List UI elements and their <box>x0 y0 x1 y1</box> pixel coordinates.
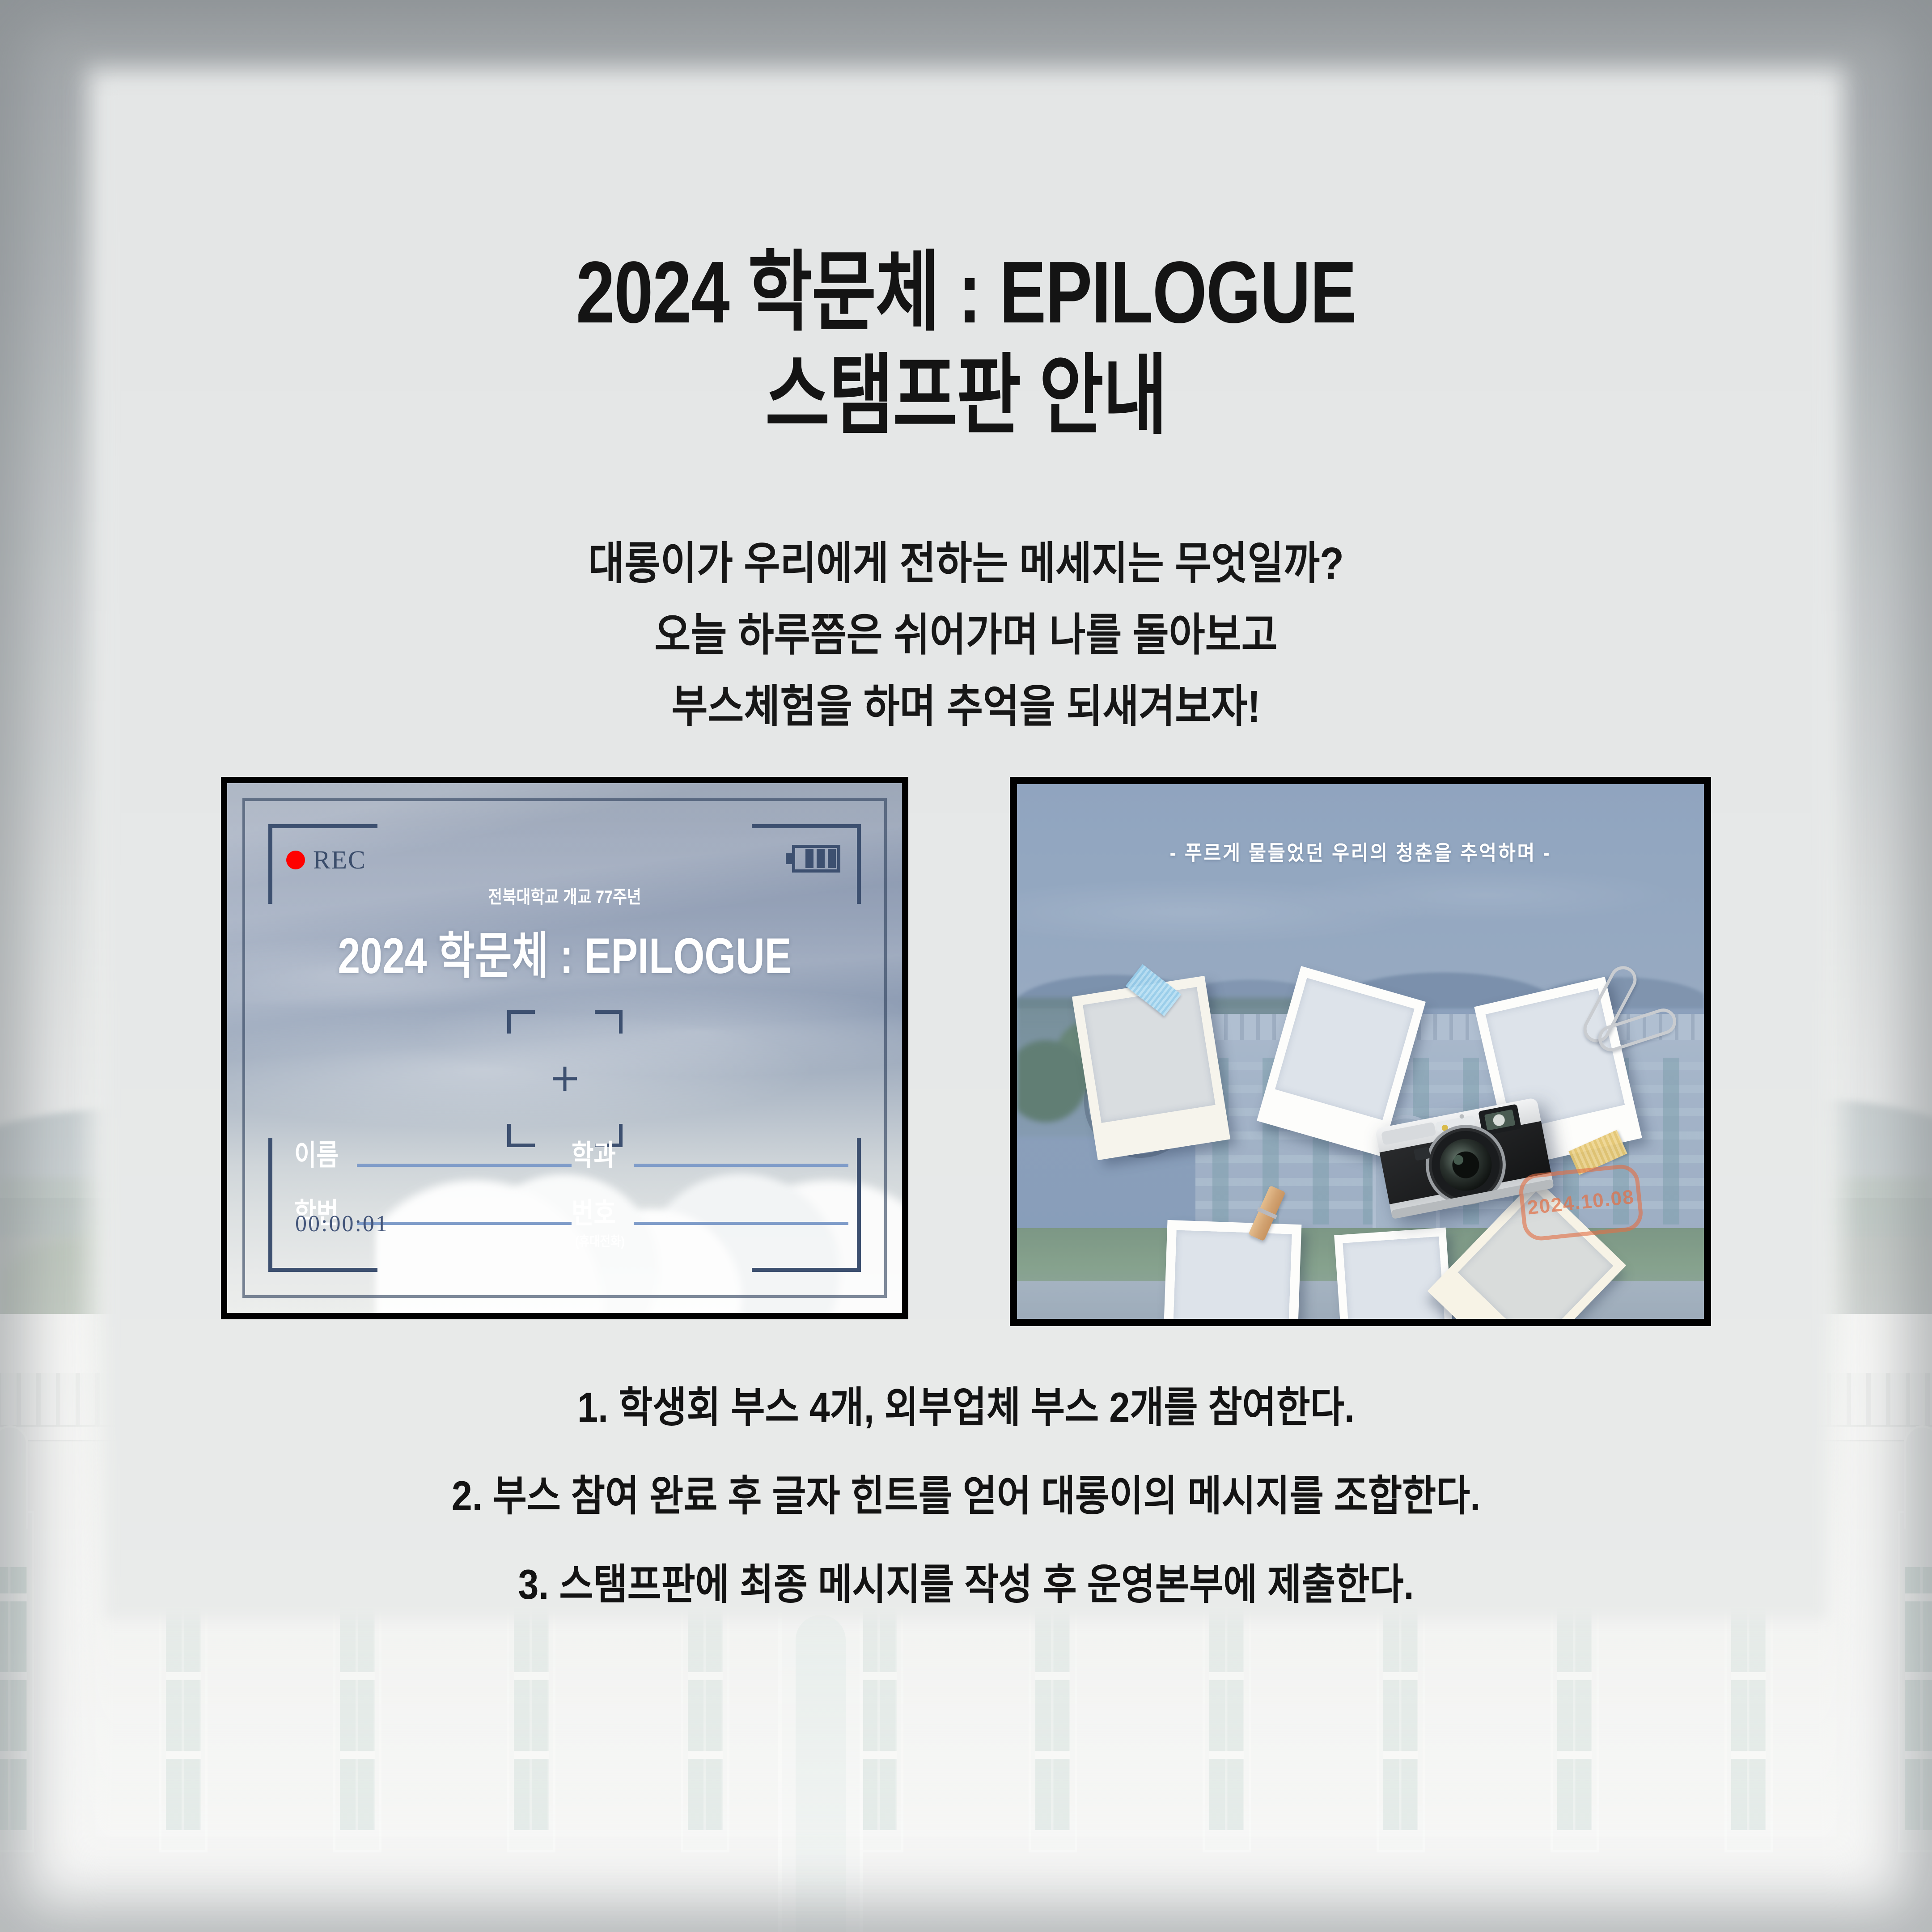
focus-crosshair-icon <box>507 1010 623 1147</box>
collage-header: - 푸르게 물들었던 우리의 청춘을 추억하며 - <box>1044 837 1676 866</box>
instruction-list: 1. 학생회 부스 4개, 외부업체 부스 2개를 참여한다. 2. 부스 참여… <box>0 1386 1932 1652</box>
field-label: 학과 <box>572 1141 616 1169</box>
viewfinder-card: REC 전북대학교 개교 77주년 2024 학문체 : EPILOGUE <box>221 777 908 1319</box>
field-underline[interactable] <box>634 1164 848 1167</box>
field-phone[interactable]: 번호 (휴대전화) <box>572 1199 849 1228</box>
field-label: 이름 <box>294 1141 339 1169</box>
record-dot-icon <box>286 851 305 869</box>
rec-indicator: REC <box>286 845 366 875</box>
instruction-step: 3. 스탬프판에 최종 메시지를 작성 후 운영본부에 제출한다. <box>116 1563 1816 1606</box>
viewfinder-card-inner: REC 전북대학교 개교 77주년 2024 학문체 : EPILOGUE <box>227 783 902 1313</box>
field-name[interactable]: 이름 <box>294 1141 572 1169</box>
card-title: 2024 학문체 : EPILOGUE <box>295 915 835 988</box>
timecode: 00:00:01 <box>295 1211 389 1237</box>
battery-level-bars <box>805 849 836 868</box>
instruction-step: 2. 부스 참여 완료 후 글자 힌트를 얻어 대롱이의 메시지를 조합한다. <box>116 1475 1816 1517</box>
field-underline[interactable] <box>357 1222 572 1225</box>
field-underline[interactable] <box>357 1164 572 1167</box>
field-note: (휴대전화) <box>575 1230 625 1250</box>
cards-row: REC 전북대학교 개교 77주년 2024 학문체 : EPILOGUE <box>0 777 1932 1331</box>
date-stamp-orange: 2024.10.08 <box>1517 1163 1644 1242</box>
collage-card-inner: 18-1 - 푸르게 물들었던 우리의 청춘을 추억하며 - 2024.10.0… <box>1017 784 1704 1319</box>
page-title: 2024 학문체 : EPILOGUE 스탬프판 안내 <box>193 241 1739 448</box>
stamp-form-fields: 이름 학과 학번 <box>294 1141 848 1257</box>
card-supra-title: 전북대학교 개교 77주년 <box>275 882 855 908</box>
instruction-step: 1. 학생회 부스 4개, 외부업체 부스 2개를 참여한다. <box>116 1386 1816 1428</box>
collage-card: 18-1 - 푸르게 물들었던 우리의 청춘을 추억하며 - 2024.10.0… <box>1010 777 1711 1326</box>
field-underline[interactable] <box>634 1222 848 1225</box>
field-label: 번호 <box>572 1199 616 1228</box>
poster-root: 18-1 2024 학문체 : EPILOGUE 스탬프판 안내 대롱이가 우리… <box>0 0 1932 1932</box>
rec-label: REC <box>313 845 366 875</box>
polaroid-frame <box>1334 1228 1456 1319</box>
field-department[interactable]: 학과 <box>572 1141 849 1169</box>
battery-icon <box>786 845 840 873</box>
form-row: 이름 학과 <box>294 1141 848 1169</box>
page-subtitle: 대롱이가 우리에게 전하는 메세지는 무엇일까? 오늘 하루쯤은 쉬어가며 나를… <box>116 528 1816 742</box>
polaroid-frame <box>1162 1220 1302 1319</box>
